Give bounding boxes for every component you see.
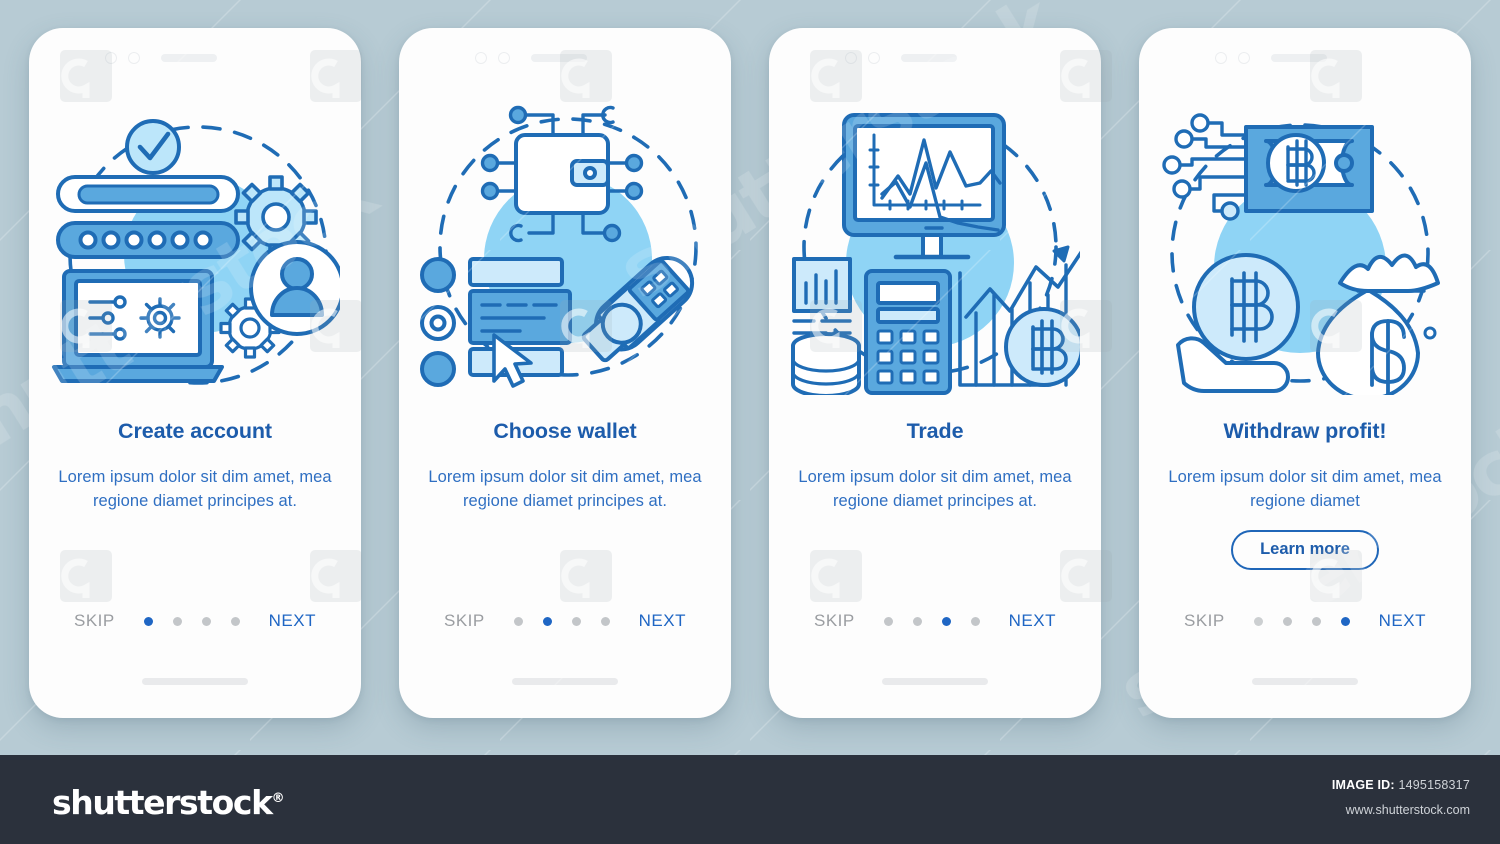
page-dot[interactable] [1341, 617, 1350, 626]
skip-button[interactable]: SKIP [1184, 611, 1225, 631]
page-title: Create account [53, 420, 337, 444]
image-id-value: 1495158317 [1398, 778, 1470, 792]
create-account-illustration [29, 80, 361, 410]
home-indicator [512, 678, 618, 685]
page-dot[interactable] [144, 617, 153, 626]
speaker-bar [901, 54, 957, 62]
next-button[interactable]: NEXT [639, 611, 686, 631]
home-indicator [142, 678, 248, 685]
page-dot[interactable] [884, 617, 893, 626]
screen-copy: Choose wallet Lorem ipsum dolor sit dim … [399, 420, 731, 513]
cta-wrapper: Learn more [1163, 530, 1447, 569]
phone-screen-trade: Trade Lorem ipsum dolor sit dim amet, me… [769, 28, 1101, 718]
sensor-icon [128, 52, 140, 64]
page-body: Lorem ipsum dolor sit dim amet, mea regi… [1163, 465, 1447, 514]
phone-notch [1139, 52, 1471, 64]
page-dot[interactable] [942, 617, 951, 626]
pager: SKIP NEXT [399, 611, 731, 631]
screen-copy: Create account Lorem ipsum dolor sit dim… [29, 420, 361, 513]
skip-button[interactable]: SKIP [444, 611, 485, 631]
page-title: Withdraw profit! [1163, 420, 1447, 444]
trade-illustration [769, 80, 1101, 410]
page-dot[interactable] [231, 617, 240, 626]
page-dots [144, 617, 240, 626]
camera-icon [845, 52, 857, 64]
image-id: IMAGE ID: 1495158317 [1332, 778, 1470, 792]
page-dot[interactable] [971, 617, 980, 626]
page-dots [514, 617, 610, 626]
page-dots [884, 617, 980, 626]
page-dot[interactable] [173, 617, 182, 626]
phone-screen-create-account: Create account Lorem ipsum dolor sit dim… [29, 28, 361, 718]
screen-copy: Withdraw profit! Lorem ipsum dolor sit d… [1139, 420, 1471, 570]
page-body: Lorem ipsum dolor sit dim amet, mea regi… [423, 465, 707, 514]
pager: SKIP NEXT [769, 611, 1101, 631]
speaker-bar [1271, 54, 1327, 62]
pager: SKIP NEXT [1139, 611, 1471, 631]
image-id-label: IMAGE ID: [1332, 778, 1395, 792]
sensor-icon [1238, 52, 1250, 64]
next-button[interactable]: NEXT [1379, 611, 1426, 631]
next-button[interactable]: NEXT [269, 611, 316, 631]
camera-icon [105, 52, 117, 64]
phone-screen-withdraw-profit: Withdraw profit! Lorem ipsum dolor sit d… [1139, 28, 1471, 718]
phone-notch [399, 52, 731, 64]
shutterstock-logo: shutterstock® [52, 783, 285, 822]
pager: SKIP NEXT [29, 611, 361, 631]
phone-screen-choose-wallet: Choose wallet Lorem ipsum dolor sit dim … [399, 28, 731, 718]
phone-notch [769, 52, 1101, 64]
page-body: Lorem ipsum dolor sit dim amet, mea regi… [53, 465, 337, 514]
withdraw-profit-illustration [1139, 80, 1471, 410]
page-dot[interactable] [572, 617, 581, 626]
page-body: Lorem ipsum dolor sit dim amet, mea regi… [793, 465, 1077, 514]
registered-mark: ® [272, 791, 285, 806]
page-dot[interactable] [514, 617, 523, 626]
page-dot[interactable] [1254, 617, 1263, 626]
page-title: Choose wallet [423, 420, 707, 444]
footer-url: www.shutterstock.com [1346, 803, 1470, 817]
page-dot[interactable] [913, 617, 922, 626]
home-indicator [882, 678, 988, 685]
page-title: Trade [793, 420, 1077, 444]
learn-more-button[interactable]: Learn more [1231, 530, 1379, 569]
sensor-icon [498, 52, 510, 64]
onboarding-stage: Create account Lorem ipsum dolor sit dim… [0, 0, 1500, 755]
skip-button[interactable]: SKIP [74, 611, 115, 631]
speaker-bar [161, 54, 217, 62]
page-dot[interactable] [543, 617, 552, 626]
footer-bar: shutterstock® IMAGE ID: 1495158317 www.s… [0, 755, 1500, 844]
home-indicator [1252, 678, 1358, 685]
camera-icon [475, 52, 487, 64]
phone-mockup-row: Create account Lorem ipsum dolor sit dim… [0, 0, 1500, 755]
logo-text: shutterstock [52, 783, 272, 822]
page-dot[interactable] [202, 617, 211, 626]
page-dot[interactable] [601, 617, 610, 626]
page-dot[interactable] [1312, 617, 1321, 626]
speaker-bar [531, 54, 587, 62]
phone-notch [29, 52, 361, 64]
camera-icon [1215, 52, 1227, 64]
page-dots [1254, 617, 1350, 626]
choose-wallet-illustration [399, 80, 731, 410]
next-button[interactable]: NEXT [1009, 611, 1056, 631]
screen-copy: Trade Lorem ipsum dolor sit dim amet, me… [769, 420, 1101, 513]
skip-button[interactable]: SKIP [814, 611, 855, 631]
page-dot[interactable] [1283, 617, 1292, 626]
sensor-icon [868, 52, 880, 64]
